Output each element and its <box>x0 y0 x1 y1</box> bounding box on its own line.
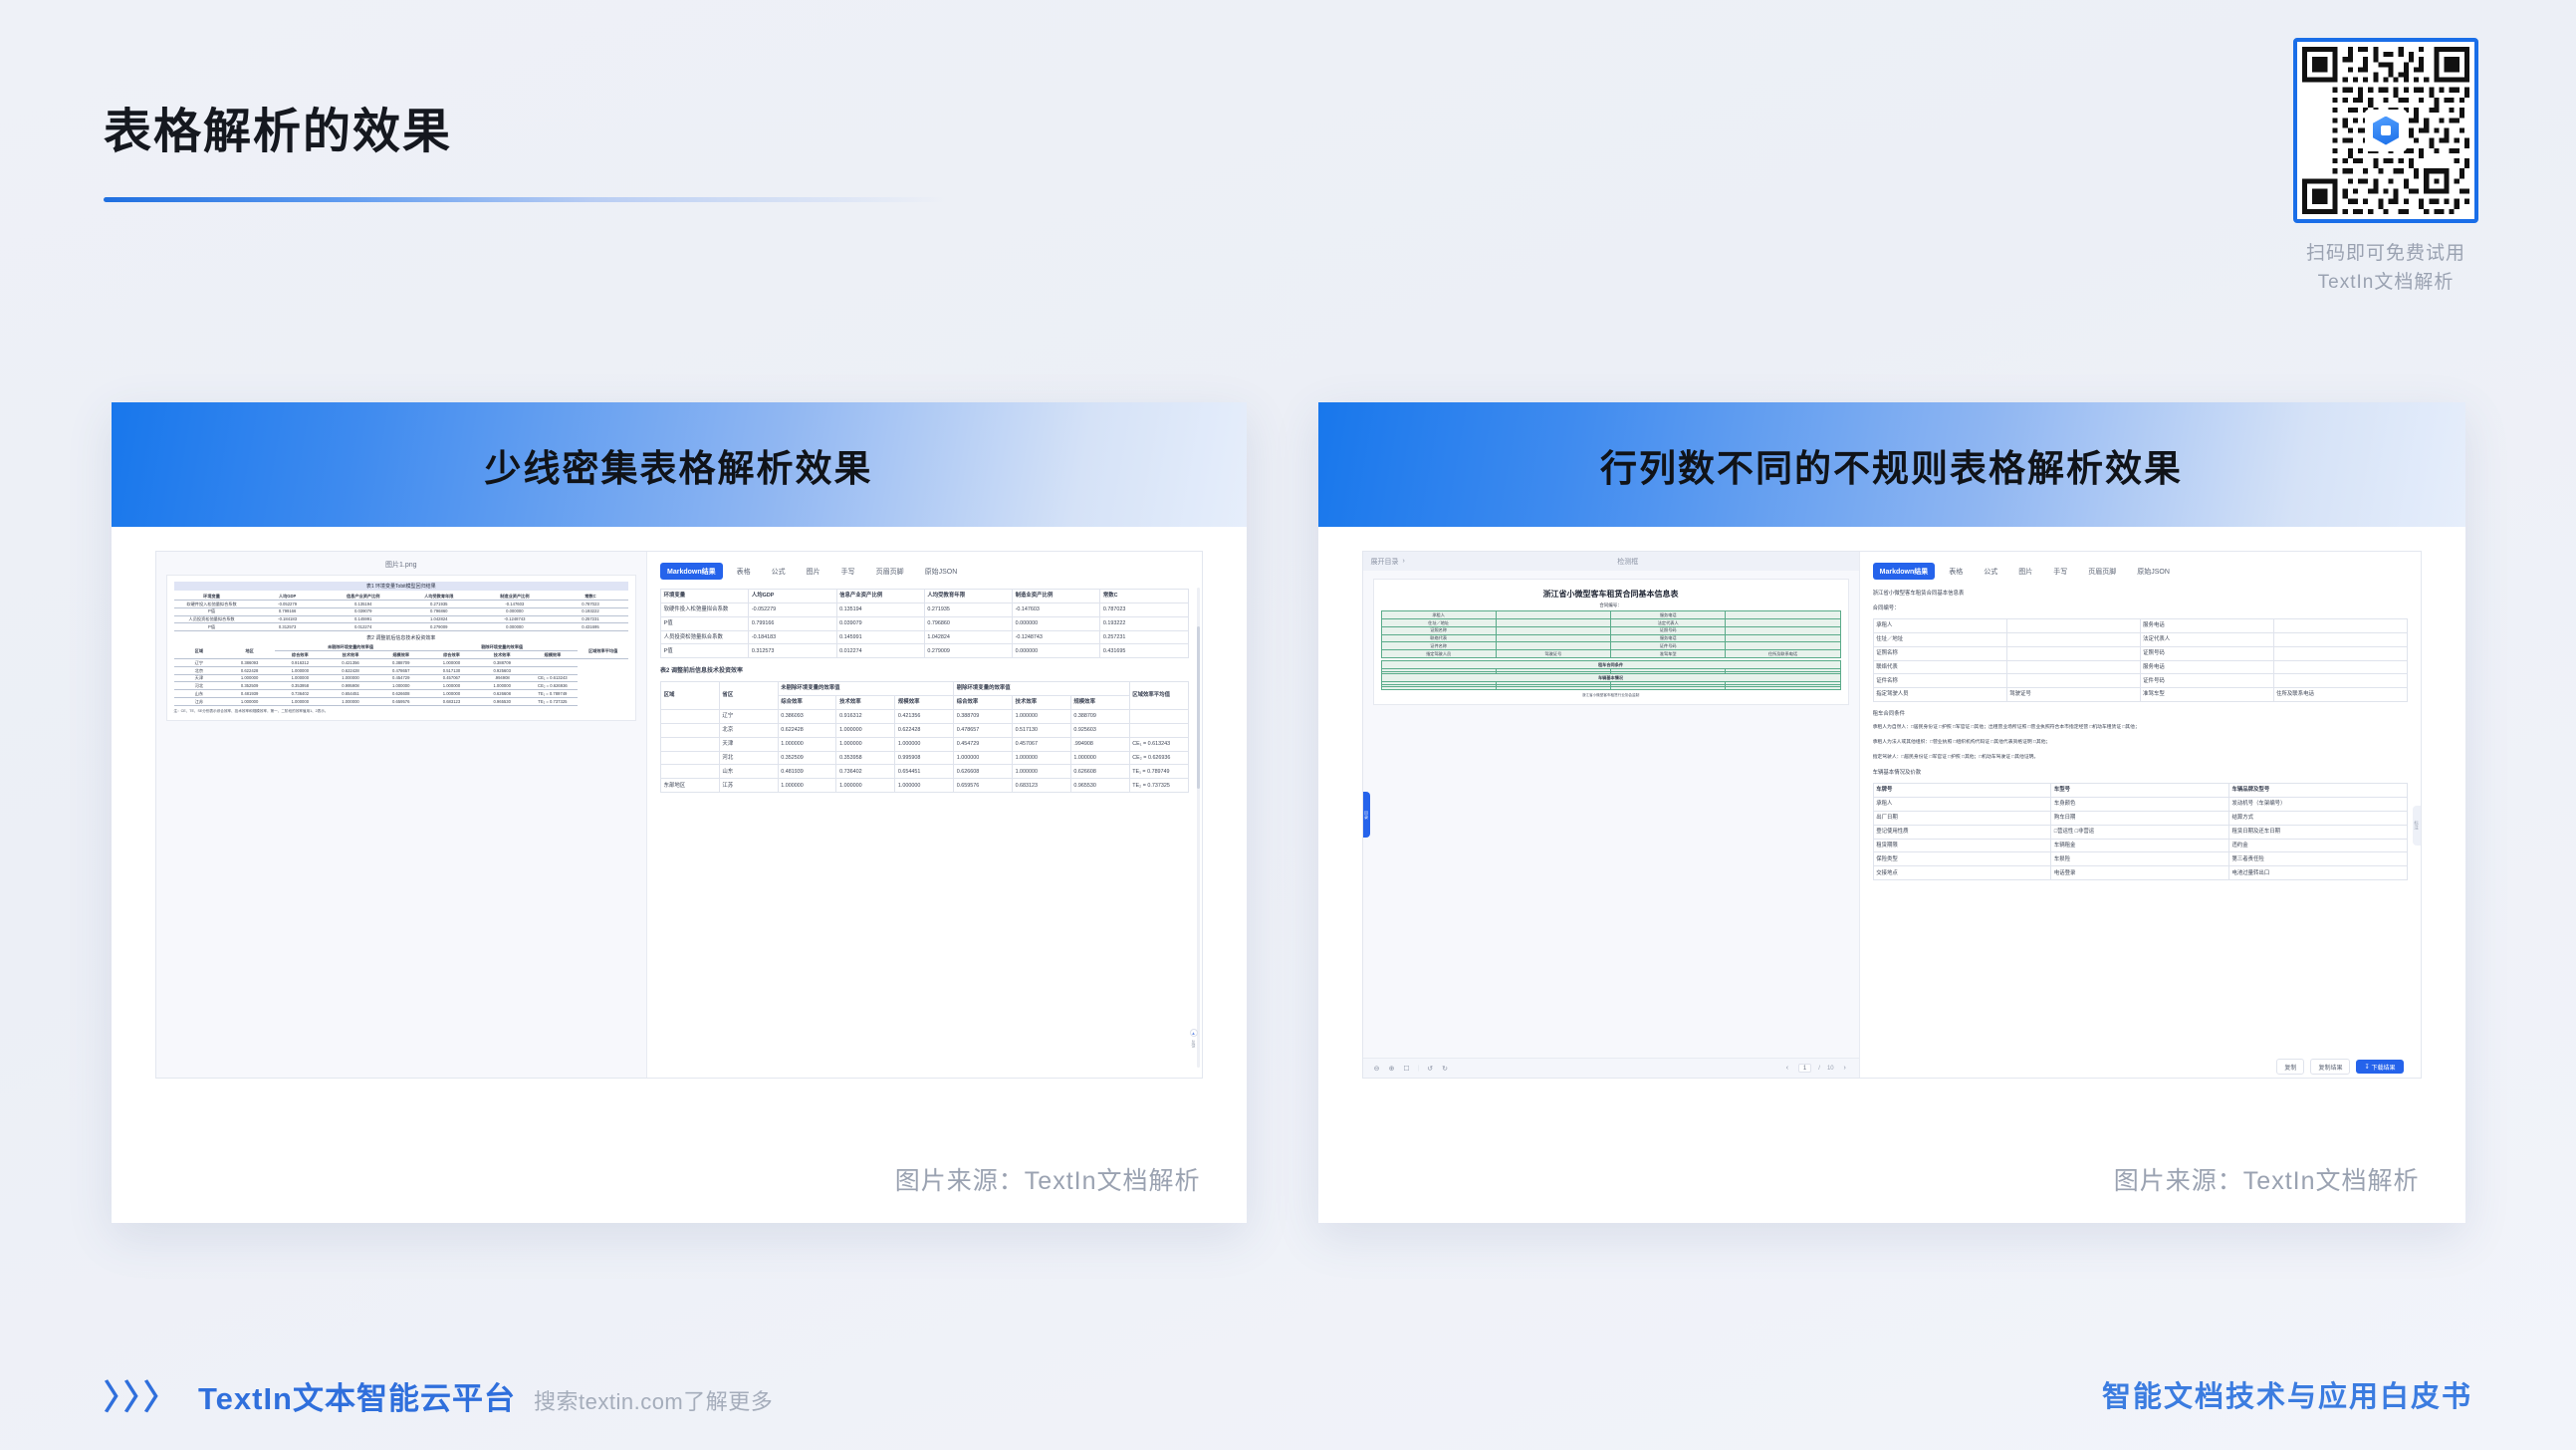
md-t2-group-0: 区域 <box>661 682 720 710</box>
result-tabs-left: Markdown结果表格公式图片手写页眉页脚原始JSON <box>660 563 1189 580</box>
md-t2-cell-2: 0.622428 <box>778 723 836 737</box>
md-t2-group-2: 未剔除环境变量的效率值 <box>778 682 953 696</box>
floating-actions-left[interactable]: ▲ 反馈 <box>1190 1029 1198 1048</box>
doc-t2-cell-3: 0.654451 <box>326 690 376 698</box>
zoom-in-icon[interactable]: ⊕ <box>1388 1065 1396 1073</box>
table-row: 联络代表服务电话 <box>1381 634 1840 642</box>
table-row: 软硬件投入松弛量拟合系数-0.0522790.1351940.271935-0.… <box>174 600 629 607</box>
zoom-out-icon[interactable]: ⊖ <box>1373 1065 1381 1073</box>
textin-cube-logo-icon <box>2365 110 2407 151</box>
md-t2-cell-2: 1.000000 <box>778 779 836 793</box>
qr-caption-line-1: 扫码即可免费试用 <box>2306 239 2465 268</box>
table-row: 住址／地址法定代表人 <box>1381 618 1840 626</box>
doc-t1-cell-3: 0.271935 <box>401 600 477 607</box>
doc-t1-cell-1: 0.799166 <box>250 607 326 615</box>
table-row: 江苏1.0000001.0000001.0000000.6595760.6831… <box>174 698 629 706</box>
expand-toc-button[interactable]: 展开目录 › <box>1371 557 1405 567</box>
tab-right-6[interactable]: 原始JSON <box>2130 563 2177 580</box>
md-vehicle-cell-1: 购车日期 <box>2051 811 2229 825</box>
table-row: 天津1.0000001.0000001.0000000.4547290.4570… <box>174 674 629 682</box>
md-table-2-body: 辽宁0.3860930.9163120.4213560.3887091.0000… <box>661 710 1189 793</box>
tab-left-1[interactable]: 表格 <box>730 563 758 580</box>
table-row: 指定驾驶人员驾驶证号准驾车型住所及联系电话 <box>1873 688 2407 702</box>
contract-cell-0: 证件名称 <box>1381 642 1496 650</box>
rotate-right-icon[interactable]: ↻ <box>1441 1065 1449 1073</box>
table-row: 人员投资松弛量拟合系数-0.1841830.1459911.042824-0.1… <box>661 630 1189 644</box>
md-contract-cell-2: 服务电话 <box>2140 619 2273 633</box>
md-contract-cell-2: 准驾车型 <box>2140 688 2273 702</box>
card-caption-right: 图片来源：TextIn文档解析 <box>2114 1161 2420 1197</box>
md-contract-cell-1 <box>2006 646 2140 660</box>
md-t2-group-3: 剔除环境变量的效率值 <box>954 682 1129 696</box>
md-table-2-header-row: 区域省区未剔除环境变量的效率值剔除环境变量的效率值区域效率平均值 <box>661 682 1189 696</box>
doc-t2-sub-2: 规模效率 <box>375 651 426 659</box>
md-contract-cell-1 <box>2006 660 2140 674</box>
next-page-icon[interactable]: › <box>1841 1065 1849 1073</box>
md-t2-cell-1: 天津 <box>719 737 778 751</box>
md-t2-cell-5: 0.659576 <box>954 779 1013 793</box>
md-t1-cell-2: 0.135194 <box>836 603 924 616</box>
table-row: 车牌号车型号车辆品牌及型号 <box>1873 784 2407 798</box>
md-t2-cell-6: 0.683123 <box>1012 779 1070 793</box>
md-t2-cell-2: 0.352509 <box>778 751 836 765</box>
download-result-button[interactable]: ↧ 下载结果 <box>2356 1060 2403 1074</box>
doc-t1-cell-0: P值 <box>174 607 250 615</box>
md-t2-cell-0 <box>661 737 720 751</box>
md-vehicle-cell-0: 出厂日期 <box>1873 811 2051 825</box>
contract-table-body: 承租人服务电话住址／地址法定代表人证照名称证照号码联络代表服务电话证件名称证件号… <box>1381 611 1840 658</box>
md-vehicle-table: 车牌号车型号车辆品牌及型号承租人车身颜色发动机号（车架编号）出厂日期购车日期结算… <box>1873 783 2408 880</box>
doc-t2-cell-1: 0.386093 <box>224 658 275 666</box>
contract-cell-3: 住所及联系电话 <box>1726 650 1840 658</box>
md-table-1-header-row: 环境变量人均GDP信息产业资产比例人均受教育年限制造业资产比例常数C <box>661 590 1189 604</box>
md-t1-cell-4: 0.000000 <box>1013 644 1100 658</box>
md-contract-table: 承租人服务电话住址／地址法定代表人证照名称证照号码联络代表服务电话证件名称证件号… <box>1873 618 2408 702</box>
md-table-1: 环境变量人均GDP信息产业资产比例人均受教育年限制造业资产比例常数C 软硬件投入… <box>660 589 1189 658</box>
tab-right-3[interactable]: 图片 <box>2011 563 2039 580</box>
md-t2-group-4: 区域效率平均值 <box>1129 682 1188 710</box>
tab-left-6[interactable]: 原始JSON <box>918 563 965 580</box>
doc-t2-cell-1: 0.481939 <box>224 690 275 698</box>
markdown-scroll-right[interactable]: 浙江省小微型客车租赁合同基本信息表 合同编号： 承租人服务电话住址／地址法定代表… <box>1873 589 2408 1056</box>
md-t1-head-2: 信息产业资产比例 <box>836 590 924 604</box>
total-pages: 10 <box>1827 1066 1834 1072</box>
md-t2-cell-8: TE₂ = 0.737325 <box>1129 779 1188 793</box>
markdown-result-pane-left: Markdown结果表格公式图片手写页眉页脚原始JSON 环境变量人均GDP信息… <box>647 552 1202 1078</box>
cards-container: 少线密集表格解析效果 图片1.png 表1 环境变量Tobit模型回归结果 环境… <box>0 402 2576 1223</box>
contract-section-table: 租车合同条件 车辆基本情况 <box>1381 660 1841 690</box>
md-table-1-body: 软硬件投入松弛量拟合系数-0.0522790.1351940.271935-0.… <box>661 603 1189 657</box>
table-row: P值0.7991660.0390790.7968600.0000000.1932… <box>174 607 629 615</box>
doc-t2-cell-3: 0.622428 <box>326 666 376 674</box>
contract-cell-2: 准驾车型 <box>1611 650 1726 658</box>
md-t1-cell-5: 0.787023 <box>1100 603 1188 616</box>
doc-t1-head-0: 环境变量 <box>174 593 250 600</box>
doc-t1-cell-1: 0.312573 <box>250 623 326 631</box>
table-row: 登记使用性质□营运性 □非营运租赁日期及还车日期 <box>1873 825 2407 839</box>
table-row: 住址／地址法定代表人 <box>1873 632 2407 646</box>
md-t1-head-1: 人均GDP <box>749 590 836 604</box>
app-screenshot-left: 图片1.png 表1 环境变量Tobit模型回归结果 环境变量人均GDP信息产业… <box>155 551 1203 1079</box>
table-row: 租赁期限车辆租金违约金 <box>1873 839 2407 852</box>
chevron-triple-icon: 〉〉〉 <box>104 1370 180 1419</box>
doc-t1-head-2: 信息产业资产比例 <box>326 593 401 600</box>
doc-t2-cell-4: 0.388709 <box>375 658 426 666</box>
contract-cell-0: 住址／地址 <box>1381 618 1496 626</box>
md-t2-cell-1: 江苏 <box>719 779 778 793</box>
md-vehicle-cell-1: 车辆租金 <box>2051 839 2229 852</box>
preview-topbar: 展开目录 › 检测框 <box>1363 552 1859 571</box>
md-contract-cell-3 <box>2273 646 2407 660</box>
md-contract-cell-0: 指定驾驶人员 <box>1873 688 2006 702</box>
doc-t1-cell-5: 0.787023 <box>553 600 628 607</box>
doc-t2-sub-1: 技术效率 <box>326 651 376 659</box>
md-contract-cell-2: 证件号码 <box>2140 674 2273 688</box>
doc-t1-cell-0: P值 <box>174 623 250 631</box>
contract-cell-3 <box>1726 642 1840 650</box>
md-t2-cell-3: 0.916312 <box>836 710 895 724</box>
doc-t2-group-2: 未剔除环境变量的效率值 <box>275 643 426 650</box>
doc-t1-head-5: 常数C <box>553 593 628 600</box>
md-t2-cell-1: 辽宁 <box>719 710 778 724</box>
fit-page-icon[interactable]: ☐ <box>1403 1065 1411 1073</box>
md-contract-cell-2: 服务电话 <box>2140 660 2273 674</box>
doc-t2-cell-7: CE₁ = 0.613243 <box>528 674 579 682</box>
doc-t1-head-1: 人均GDP <box>250 593 326 600</box>
md-t1-cell-1: -0.184183 <box>749 630 836 644</box>
detection-box-label: 检测框 <box>1617 557 1638 567</box>
copy-button[interactable]: 复制 <box>2276 1059 2304 1075</box>
doc-t2-cell-3: 0.421356 <box>326 658 376 666</box>
md-contract-cell-3: 住所及联系电话 <box>2273 688 2407 702</box>
doc-t1-cell-0: 人员投资松弛量拟合系数 <box>174 615 250 623</box>
tab-left-0[interactable]: Markdown结果 <box>660 563 723 580</box>
download-label: 下载结果 <box>2371 1063 2395 1072</box>
md-t2-cell-8: CE₂ = 0.626936 <box>1129 751 1188 765</box>
markdown-scroll-left[interactable]: 环境变量人均GDP信息产业资产比例人均受教育年限制造业资产比例常数C 软硬件投入… <box>660 589 1189 1078</box>
contract-cell-0: 承租人 <box>1381 611 1496 619</box>
contract-cell-1 <box>1496 611 1610 619</box>
md-t2-cell-1: 山东 <box>719 765 778 779</box>
md-t2-cell-3: 1.000000 <box>836 779 895 793</box>
md-t2-cell-4: 0.995908 <box>895 751 954 765</box>
doc-t2-cell-0: 河北 <box>174 682 225 690</box>
toc-side-tab[interactable]: 目录 <box>1363 792 1370 838</box>
md-t2-cell-2: 0.481939 <box>778 765 836 779</box>
doc-t2-cell-6: 0.388709 <box>477 658 528 666</box>
md-vehicle-cell-1: 电话登录 <box>2051 866 2229 880</box>
doc-t2-cell-2: 0.736402 <box>275 690 326 698</box>
doc-t2-cell-1: 0.352509 <box>224 682 275 690</box>
card-body-left: 图片1.png 表1 环境变量Tobit模型回归结果 环境变量人均GDP信息产业… <box>112 527 1247 1223</box>
card-body-right: 展开目录 › 检测框 浙江省小微型客车租赁合同基本信息表 合同编号： 承租人服务… <box>1318 527 2465 1223</box>
qr-code[interactable] <box>2293 38 2478 223</box>
md-t1-cell-2: 0.145991 <box>836 630 924 644</box>
table-row: 东部地区江苏1.0000001.0000001.0000000.6595760.… <box>661 779 1189 793</box>
doc-t1-head-4: 制造业资产比例 <box>477 593 553 600</box>
doc-t2-cell-6: 1.000000 <box>477 682 528 690</box>
table-row: 出厂日期购车日期结算方式 <box>1873 811 2407 825</box>
md-contract-cell-3 <box>2273 674 2407 688</box>
table-row: P值0.3125730.0122740.2790090.0000000.4316… <box>174 623 629 631</box>
doc-t1-cell-5: 0.193222 <box>553 607 628 615</box>
table-row: 证件名称证件号码 <box>1873 674 2407 688</box>
qr-block: 扫码即可免费试用 TextIn文档解析 <box>2267 38 2504 298</box>
md-table-2-title: 表2 调整前后信息技术投资效率 <box>660 665 1189 674</box>
md-t1-head-0: 环境变量 <box>661 590 749 604</box>
contract-cell-2: 证件号码 <box>1611 642 1726 650</box>
doc-t1-cell-2: 0.145991 <box>326 615 401 623</box>
doc-t1-cell-4: 0.000000 <box>477 607 553 615</box>
doc-t1-head-3: 人均受教育年限 <box>401 593 477 600</box>
doc-t2-cell-4: 0.659576 <box>375 698 426 706</box>
annotation-side-tab[interactable]: 标注 <box>2413 806 2421 846</box>
md-t2-cell-7: 1.000000 <box>1070 751 1129 765</box>
doc-t1-cell-5: 0.257231 <box>553 615 628 623</box>
contract-footer-note: 浙江省小微型客车租赁行业协会监制 <box>1381 690 1841 698</box>
contract-section-2: 车辆基本情况 <box>1381 674 1840 682</box>
table-row: P值0.7991660.0390790.7968600.0000000.1932… <box>661 616 1189 630</box>
md-vehicle-head-2: 车辆品牌及型号 <box>2228 784 2407 798</box>
result-tabs-right: Markdown结果表格公式图片手写页眉页脚原始JSON <box>1873 563 2408 580</box>
app-screenshot-right: 展开目录 › 检测框 浙江省小微型客车租赁合同基本信息表 合同编号： 承租人服务… <box>1362 551 2422 1079</box>
md-t2-cell-6: 0.517130 <box>1012 723 1070 737</box>
md-t2-cell-6: 1.000000 <box>1012 765 1070 779</box>
md-t1-cell-2: 0.012274 <box>836 644 924 658</box>
tab-left-2[interactable]: 公式 <box>765 563 793 580</box>
md-vehicle-cell-2: 租赁日期及还车日期 <box>2228 825 2407 839</box>
md-contract-number: 合同编号： <box>1873 604 2408 611</box>
md-vehicle-cell-0: 承租人 <box>1873 798 2051 812</box>
table-row: 山东0.4819390.7364020.6544510.6266081.0000… <box>661 765 1189 779</box>
table-row: P值0.3125730.0122740.2790090.0000000.4316… <box>661 644 1189 658</box>
table-row: 软硬件投入松弛量拟合系数-0.0522790.1351940.271935-0.… <box>661 603 1189 616</box>
md-t1-cell-3: 1.042824 <box>924 630 1012 644</box>
feedback-label[interactable]: 反馈 <box>1191 1040 1197 1048</box>
doc-t2-cell-0: 江苏 <box>174 698 225 706</box>
rotate-left-icon[interactable]: ↺ <box>1426 1065 1434 1073</box>
vertical-scrollbar-left[interactable] <box>1197 588 1200 1068</box>
md-t2-group-1: 省区 <box>719 682 778 710</box>
md-contract-cell-0: 证照名称 <box>1873 646 2006 660</box>
tab-left-3[interactable]: 图片 <box>800 563 827 580</box>
contract-cell-3 <box>1726 634 1840 642</box>
scrollbar-thumb[interactable] <box>1197 626 1200 790</box>
md-contract-cell-0: 联络代表 <box>1873 660 2006 674</box>
card-header-left: 少线密集表格解析效果 <box>112 402 1247 527</box>
md-t2-cell-7: 0.965530 <box>1070 779 1129 793</box>
card-header-right: 行列数不同的不规则表格解析效果 <box>1318 402 2465 527</box>
current-page-input[interactable]: 1 <box>1798 1064 1811 1073</box>
table-row: 北京0.6224281.0000000.6224280.4786570.5171… <box>661 723 1189 737</box>
md-t2-sub-3: 综合效率 <box>954 696 1013 710</box>
table-row: 联络代表服务电话 <box>1873 660 2407 674</box>
tab-left-4[interactable]: 手写 <box>834 563 862 580</box>
md-t2-cell-8 <box>1129 710 1188 724</box>
doc-table-1-header-row: 环境变量人均GDP信息产业资产比例人均受教育年限制造业资产比例常数C <box>174 593 629 600</box>
md-vehicle-cell-1: 车损险 <box>2051 852 2229 866</box>
md-t2-cell-4: 0.421356 <box>895 710 954 724</box>
md-t2-cell-1: 河北 <box>719 751 778 765</box>
viewer-zoom-group: ⊖ ⊕ ☐ | ↺ ↻ <box>1373 1065 1450 1073</box>
contract-cell-1 <box>1496 634 1610 642</box>
markdown-result-pane-right: Markdown结果表格公式图片手写页眉页脚原始JSON 浙江省小微型客车租赁合… <box>1860 552 2421 1078</box>
md-contract-title: 浙江省小微型客车租赁合同基本信息表 <box>1873 589 2408 597</box>
md-t2-cell-2: 1.000000 <box>778 737 836 751</box>
md-t2-cell-3: 0.736402 <box>836 765 895 779</box>
card-header-title-right: 行列数不同的不规则表格解析效果 <box>1600 438 2183 492</box>
md-section-title-1: 租车合同条件 <box>1873 709 2408 717</box>
md-t2-sub-4: 技术效率 <box>1012 696 1070 710</box>
doc-t1-cell-1: -0.052279 <box>250 600 326 607</box>
md-contract-cell-3 <box>2273 660 2407 674</box>
tab-left-5[interactable]: 页眉页脚 <box>869 563 911 580</box>
card-dense-table: 少线密集表格解析效果 图片1.png 表1 环境变量Tobit模型回归结果 环境… <box>112 402 1247 1223</box>
md-t2-sub-1: 技术效率 <box>836 696 895 710</box>
md-t1-cell-4: 0.000000 <box>1013 616 1100 630</box>
copy-result-button[interactable]: 复制结果 <box>2310 1059 2350 1075</box>
md-t1-cell-0: 软硬件投入松弛量拟合系数 <box>661 603 749 616</box>
table-row: 承租人服务电话 <box>1381 611 1840 619</box>
md-t1-cell-1: -0.052279 <box>749 603 836 616</box>
md-contract-cell-0: 证件名称 <box>1873 674 2006 688</box>
doc-table-2-header-row: 区域地区未剔除环境变量的效率值剔除环境变量的效率值区域效率平均值 <box>174 643 629 650</box>
doc-t2-cell-5: 0.517130 <box>426 666 477 674</box>
doc-t2-sub-0: 综合效率 <box>275 651 326 659</box>
prev-page-icon[interactable]: ‹ <box>1783 1065 1791 1073</box>
slide-footer: 〉〉〉 TextIn文本智能云平台 搜索textin.com了解更多 智能文档技… <box>0 1338 2576 1450</box>
doc-t2-cell-7: TE₁ = 0.789749 <box>528 690 579 698</box>
contract-cell-2: 证照号码 <box>1611 626 1726 634</box>
doc-t2-cell-0: 北京 <box>174 666 225 674</box>
md-contract-cell-1 <box>2006 674 2140 688</box>
table-row: 辽宁0.3860930.9163120.4213560.3887091.0000… <box>661 710 1189 724</box>
tab-right-0[interactable]: Markdown结果 <box>1873 563 1936 580</box>
md-t2-cell-7: 0.626608 <box>1070 765 1129 779</box>
doc-t2-cell-5: 1.000000 <box>426 658 477 666</box>
md-table-2: 区域省区未剔除环境变量的效率值剔除环境变量的效率值区域效率平均值 综合效率技术效… <box>660 681 1189 793</box>
table-row: 河北0.3525090.3539580.9959081.0000001.0000… <box>661 751 1189 765</box>
footer-right-title: 智能文档技术与应用白皮书 <box>2102 1373 2472 1415</box>
doc-t1-cell-1: -0.184183 <box>250 615 326 623</box>
md-t1-cell-0: P值 <box>661 616 749 630</box>
doc-t1-cell-3: 0.279009 <box>401 623 477 631</box>
md-t2-cell-8: TE₁ = 0.789749 <box>1129 765 1188 779</box>
doc-t2-sub-3: 综合效率 <box>426 651 477 659</box>
footer-brand-block: 〉〉〉 TextIn文本智能云平台 搜索textin.com了解更多 <box>104 1370 773 1419</box>
table-row: 承租人服务电话 <box>1873 619 2407 633</box>
md-t2-cell-3: 0.353958 <box>836 751 895 765</box>
doc-t2-cell-3: 1.000000 <box>326 674 376 682</box>
md-contract-cell-3 <box>2273 619 2407 633</box>
md-t1-cell-5: 0.257231 <box>1100 630 1188 644</box>
md-contract-cell-1 <box>2006 619 2140 633</box>
doc-t2-cell-5: 0.683123 <box>426 698 477 706</box>
contract-scroll[interactable]: 浙江省小微型客车租赁合同基本信息表 合同编号： 承租人服务电话住址／地址法定代表… <box>1363 571 1859 1058</box>
doc-table-2-body: 辽宁0.3860930.9163120.4213560.3887091.0000… <box>174 658 629 705</box>
doc-t2-cell-1: 1.000000 <box>224 698 275 706</box>
contract-number-label: 合同编号： <box>1381 603 1841 610</box>
md-t2-cell-5: 0.454729 <box>954 737 1013 751</box>
chevron-right-icon[interactable]: › <box>1403 558 1405 565</box>
md-t1-cell-4: -0.147603 <box>1013 603 1100 616</box>
doc-t2-cell-3: 1.000000 <box>326 698 376 706</box>
doc-t2-cell-5: 1.000000 <box>426 690 477 698</box>
md-contract-cell-2: 法定代表人 <box>2140 632 2273 646</box>
contract-cell-1 <box>1496 626 1610 634</box>
contract-table: 承租人服务电话住址／地址法定代表人证照名称证照号码联络代表服务电话证件名称证件号… <box>1381 610 1841 658</box>
doc-table-1-body: 软硬件投入松弛量拟合系数-0.0522790.1351940.271935-0.… <box>174 600 629 630</box>
md-vehicle-cell-2: 电池过量转出口 <box>2228 866 2407 880</box>
md-t1-cell-3: 0.279009 <box>924 644 1012 658</box>
tab-right-1[interactable]: 表格 <box>1942 563 1970 580</box>
doc-t2-cell-5: 1.000000 <box>426 682 477 690</box>
table-row: 北京0.6224281.0000000.6224280.4786570.5171… <box>174 666 629 674</box>
table-row: 承租人车身颜色发动机号（车架编号） <box>1873 798 2407 812</box>
download-icon: ↧ <box>2364 1064 2369 1071</box>
thumbs-up-icon[interactable]: ▲ <box>1190 1029 1198 1037</box>
md-t2-cell-7: 0.388709 <box>1070 710 1129 724</box>
footer-brand: TextIn文本智能云平台 <box>198 1373 516 1418</box>
md-vehicle-cell-1: 车身颜色 <box>2051 798 2229 812</box>
contract-cell-3 <box>1726 618 1840 626</box>
md-vehicle-cell-1: □营运性 □非营运 <box>2051 825 2229 839</box>
md-t2-cell-7: 0.925603 <box>1070 723 1129 737</box>
doc-t2-cell-4: 0.626608 <box>375 690 426 698</box>
doc-t1-cell-4: 0.000000 <box>477 623 553 631</box>
tab-right-4[interactable]: 手写 <box>2046 563 2074 580</box>
card-caption-left: 图片来源：TextIn文档解析 <box>895 1161 1201 1197</box>
doc-t2-cell-4: 0.478657 <box>375 666 426 674</box>
md-t1-head-5: 常数C <box>1100 590 1188 604</box>
table-row: 指定驾驶人员驾驶证号准驾车型住所及联系电话 <box>1381 650 1840 658</box>
md-paragraph-3: 指定驾驶人：□居民身份证 □军官证 □护照 □其他；□机动车驾驶证 □其他证明。 <box>1873 754 2408 762</box>
doc-t2-cell-3: 0.995908 <box>326 682 376 690</box>
doc-t2-cell-6: 0.626608 <box>477 690 528 698</box>
viewer-pager: ‹ 1 / 10 › <box>1783 1064 1849 1073</box>
md-contract-cell-3 <box>2273 632 2407 646</box>
doc-t1-cell-2: 0.039079 <box>326 607 401 615</box>
md-t1-cell-4: -0.1248743 <box>1013 630 1100 644</box>
contract-cell-3 <box>1726 626 1840 634</box>
md-vehicle-cell-2: 发动机号（车架编号） <box>2228 798 2407 812</box>
doc-t1-cell-4: -0.147603 <box>477 600 553 607</box>
doc-t2-cell-0: 山东 <box>174 690 225 698</box>
md-t1-cell-0: 人员投资松弛量拟合系数 <box>661 630 749 644</box>
md-t2-cell-4: 0.654451 <box>895 765 954 779</box>
md-vehicle-head-0: 车牌号 <box>1873 784 2051 798</box>
doc-t2-sub-5: 规模效率 <box>528 651 579 659</box>
tab-right-5[interactable]: 页眉页脚 <box>2081 563 2123 580</box>
md-vehicle-cell-0: 租赁期限 <box>1873 839 2051 852</box>
footer-brand-sub: 搜索textin.com了解更多 <box>534 1384 773 1416</box>
document-preview-pane-right: 展开目录 › 检测框 浙江省小微型客车租赁合同基本信息表 合同编号： 承租人服务… <box>1363 552 1860 1078</box>
md-t2-cell-0 <box>661 765 720 779</box>
md-t1-cell-1: 0.799166 <box>749 616 836 630</box>
document-scroll-left[interactable]: 图片1.png 表1 环境变量Tobit模型回归结果 环境变量人均GDP信息产业… <box>156 552 647 1078</box>
md-t2-cell-8 <box>1129 723 1188 737</box>
md-vehicle-cell-2: 第三者责任险 <box>2228 852 2407 866</box>
doc-t1-cell-3: 0.796860 <box>401 607 477 615</box>
md-t2-cell-7: .994908 <box>1070 737 1129 751</box>
doc-table2-caption: 表2 调整前后信息技术投资效率 <box>174 631 629 643</box>
table-row: 辽宁0.3860930.9163120.4213560.3887091.0000… <box>174 658 629 666</box>
tab-right-2[interactable]: 公式 <box>1977 563 2004 580</box>
md-paragraph-1: 承租人为自然人：□居民身份证 □护照 □军官证 □其他；出租营业场所证照 □营业… <box>1873 724 2408 732</box>
md-t2-cell-6: 1.000000 <box>1012 710 1070 724</box>
contract-section-1: 租车合同条件 <box>1381 661 1840 669</box>
table-row: 河北0.3525090.3539580.9959081.0000001.0000… <box>174 682 629 690</box>
